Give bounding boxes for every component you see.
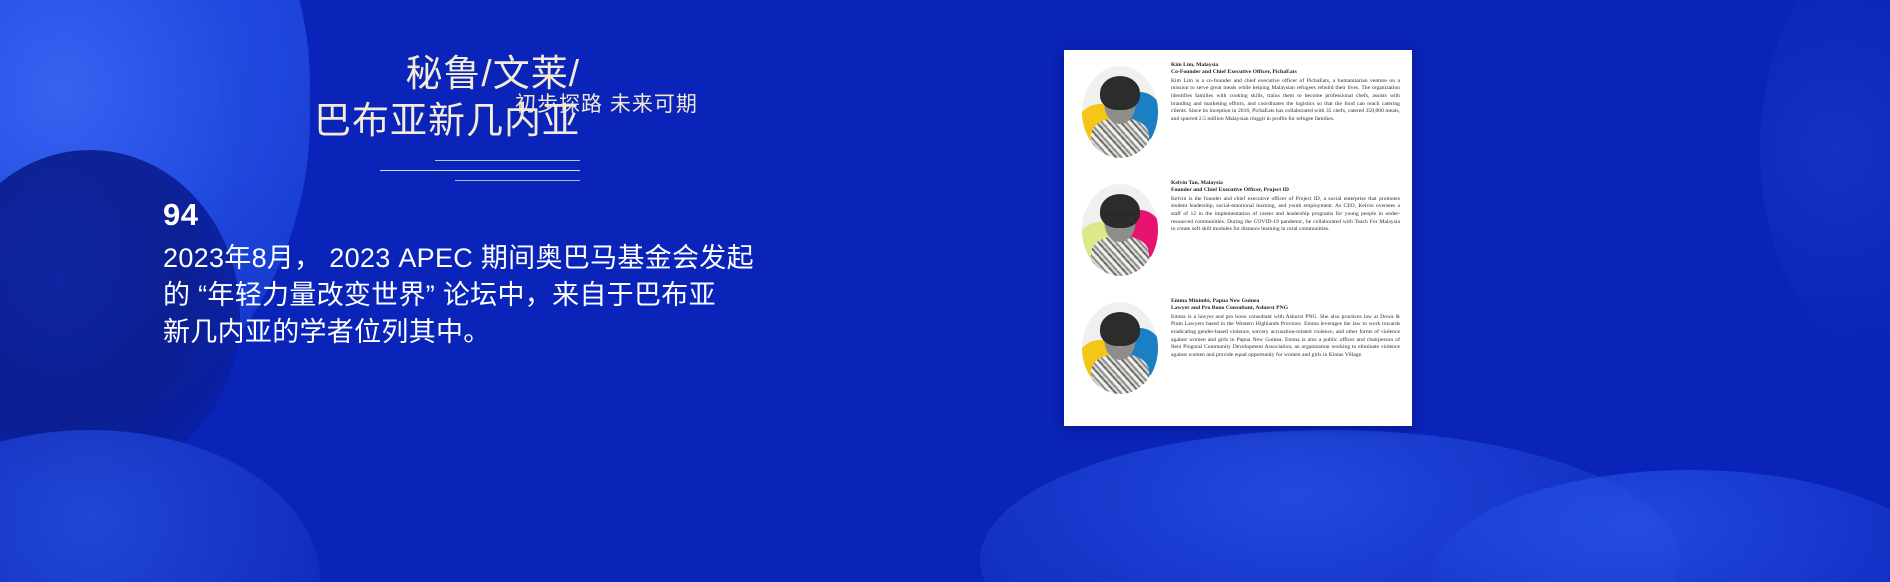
profile-entry: Kelvin Tan, Malaysia Founder and Chief E…: [1076, 178, 1400, 286]
decorative-blob-bottom-right: [980, 430, 1680, 582]
accent-rule-1: [435, 160, 580, 161]
profile-role: Founder and Chief Executive Officer, Pro…: [1171, 187, 1400, 194]
avatar: [1076, 296, 1162, 404]
slide-subtitle: 初步探路 未来可期: [515, 88, 698, 118]
avatar-backdrop: [1082, 66, 1158, 158]
avatar-backdrop: [1082, 184, 1158, 276]
glasses-icon: [1105, 214, 1135, 222]
decorative-blob-right-edge: [1760, 0, 1890, 360]
profile-entry: Kim Lim, Malaysia Co-Founder and Chief E…: [1076, 60, 1400, 168]
profile-bio: Emma is a lawyer and pro bono consultant…: [1171, 314, 1400, 360]
profile-name: Kelvin Tan, Malaysia: [1171, 180, 1400, 187]
title-accent-rules: [330, 160, 580, 181]
portrait-hair: [1100, 312, 1140, 346]
portrait-photo: [1088, 74, 1152, 158]
accent-rule-3: [455, 180, 580, 181]
slide-canvas: 秘鲁/文莱/ 巴布亚新几内亚 初步探路 未来可期 94 2023年8月， 202…: [0, 0, 1890, 582]
portrait-torso: [1091, 236, 1149, 276]
profile-bio: Kelvin is the founder and chief executiv…: [1171, 196, 1400, 234]
profile-text: Kelvin Tan, Malaysia Founder and Chief E…: [1171, 178, 1400, 286]
accent-rule-2: [380, 170, 580, 171]
portrait-photo: [1088, 310, 1152, 394]
document-screenshot-card: Kim Lim, Malaysia Co-Founder and Chief E…: [1064, 50, 1412, 426]
body-paragraph: 2023年8月， 2023 APEC 期间奥巴马基金会发起 的 “年轻力量改变世…: [163, 240, 853, 351]
profile-role: Co-Founder and Chief Executive Officer, …: [1171, 69, 1400, 76]
profile-role: Lawyer and Pro Bono Consultant, Ashurst …: [1171, 305, 1400, 312]
portrait-photo: [1088, 192, 1152, 276]
left-content-column: 秘鲁/文莱/ 巴布亚新几内亚 初步探路 未来可期 94 2023年8月， 202…: [0, 0, 900, 582]
portrait-hair: [1100, 76, 1140, 110]
profile-entry: Emma Minimbi, Papua New Guinea Lawyer an…: [1076, 296, 1400, 404]
decorative-blob-bottom-right-2: [1430, 470, 1890, 582]
body-line-2: 的 “年轻力量改变世界” 论坛中，来自于巴布亚: [163, 277, 853, 314]
avatar: [1076, 60, 1162, 168]
body-line-1: 2023年8月， 2023 APEC 期间奥巴马基金会发起: [163, 240, 853, 277]
portrait-torso: [1091, 118, 1149, 158]
avatar: [1076, 178, 1162, 286]
body-line-3: 新几内亚的学者位列其中。: [163, 314, 853, 351]
portrait-torso: [1091, 354, 1149, 394]
avatar-backdrop: [1082, 302, 1158, 394]
profile-text: Kim Lim, Malaysia Co-Founder and Chief E…: [1171, 60, 1400, 168]
profile-name: Kim Lim, Malaysia: [1171, 62, 1400, 69]
profile-name: Emma Minimbi, Papua New Guinea: [1171, 298, 1400, 305]
profile-text: Emma Minimbi, Papua New Guinea Lawyer an…: [1171, 296, 1400, 404]
stat-number: 94: [163, 197, 198, 233]
profile-bio: Kim Lim is a co-founder and chief execut…: [1171, 78, 1400, 124]
